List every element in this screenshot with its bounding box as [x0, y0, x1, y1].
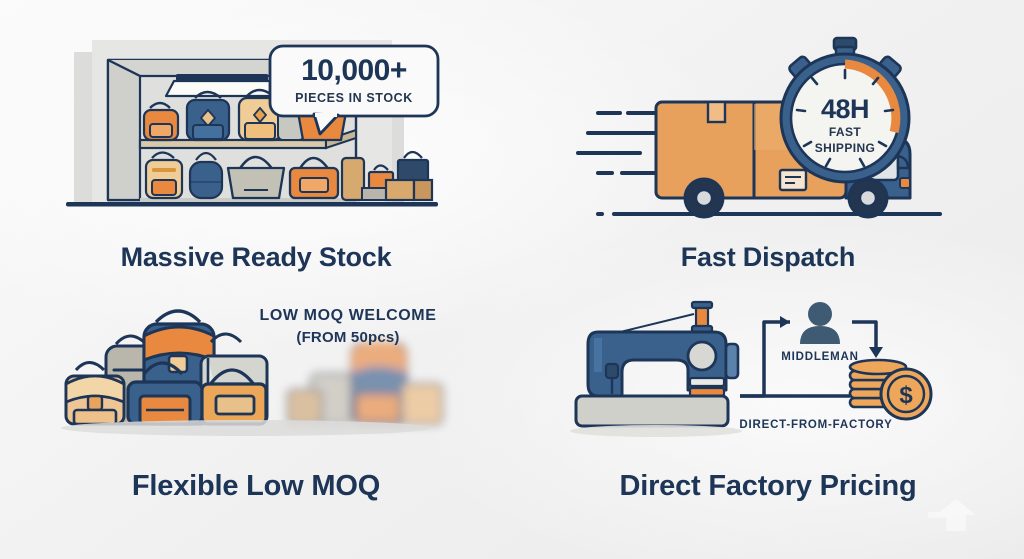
feature-panel-direct-factory-pricing: MIDDLEMAN $ DIRE [512, 280, 1024, 559]
stopwatch-subline-1: FAST [829, 125, 862, 139]
feature-panel-massive-ready-stock: 10,000+ PIECES IN STOCK Massive Ready St… [0, 0, 512, 280]
stopwatch-icon: 48H FAST SHIPPING [781, 38, 909, 182]
panel-title-direct-factory-pricing: Direct Factory Pricing [620, 470, 917, 503]
arrowhead-money-from-middleman [869, 347, 883, 358]
coin-stack-icon: $ [850, 360, 931, 419]
stock-callout-subline: PIECES IN STOCK [295, 91, 413, 105]
stopwatch-subline-2: SHIPPING [815, 141, 876, 155]
dollar-sign-icon: $ [899, 382, 913, 409]
flow-arrow-middleman-to-money [852, 322, 876, 350]
sewing-machine-icon: MIDDLEMAN $ DIRE [512, 280, 1024, 450]
moq-callout-line-2: (FROM 50pcs) [296, 329, 399, 346]
direct-from-factory-label: DIRECT-FROM-FACTORY [739, 419, 892, 431]
feature-grid: 10,000+ PIECES IN STOCK Massive Ready St… [0, 0, 1024, 559]
middleman-person-icon [800, 302, 840, 344]
bag-pile-icon: LOW MOQ WELCOME (FROM 50pcs) [0, 280, 512, 450]
stock-callout-headline: 10,000+ [301, 54, 407, 87]
panel-title-flexible-low-moq: Flexible Low MOQ [132, 470, 380, 503]
delivery-truck-icon: 48H FAST SHIPPING [512, 0, 1024, 230]
infographic-canvas: 10,000+ PIECES IN STOCK Massive Ready St… [0, 0, 1024, 559]
panel-title-massive-ready-stock: Massive Ready Stock [121, 242, 392, 273]
feature-panel-fast-dispatch: 48H FAST SHIPPING Fast Dispatch [512, 0, 1024, 280]
moq-callout-line-1: LOW MOQ WELCOME [260, 307, 437, 324]
feature-panel-flexible-low-moq: LOW MOQ WELCOME (FROM 50pcs) Flexible Lo… [0, 280, 512, 559]
warehouse-shelf-icon: 10,000+ PIECES IN STOCK [0, 0, 512, 230]
arrowhead-middleman [780, 316, 790, 328]
panel-title-fast-dispatch: Fast Dispatch [681, 242, 855, 273]
middleman-label: MIDDLEMAN [781, 351, 858, 363]
stopwatch-headline: 48H [821, 94, 869, 124]
blurred-bag-pile-decoration [288, 341, 442, 424]
